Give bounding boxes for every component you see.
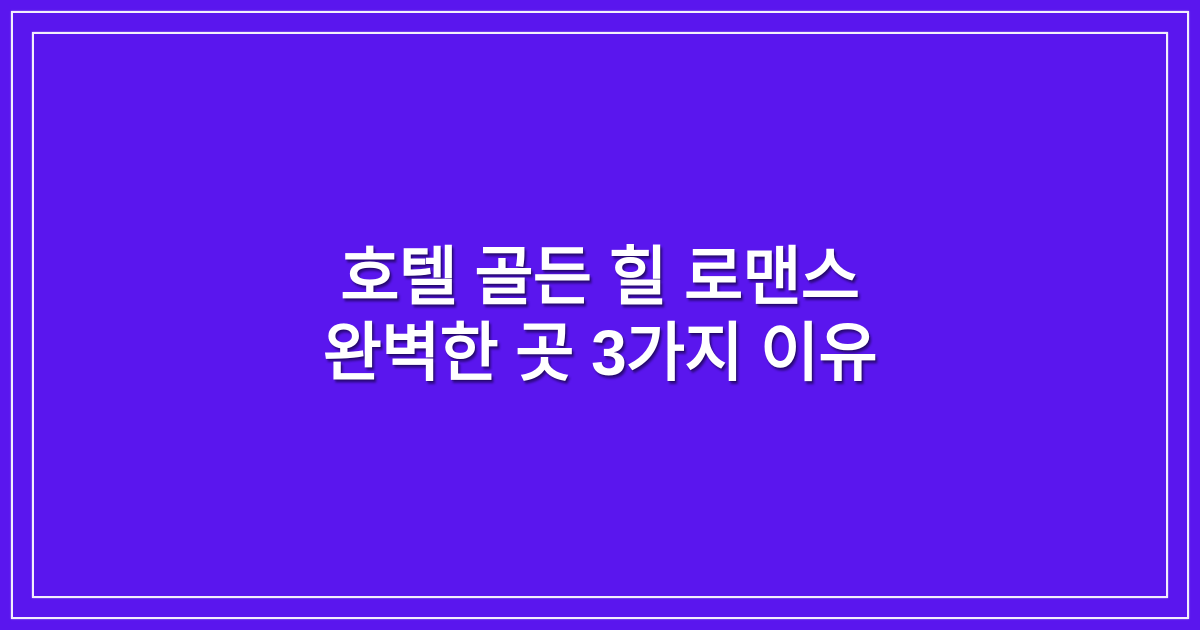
thumbnail-card: 호텔 골든 힐 로맨스 완벽한 곳 3가지 이유 (0, 0, 1200, 630)
title-line-1: 호텔 골든 힐 로맨스 (341, 239, 860, 315)
title-line-2: 완벽한 곳 3가지 이유 (323, 315, 877, 391)
title-block: 호텔 골든 힐 로맨스 완벽한 곳 3가지 이유 (0, 0, 1200, 630)
